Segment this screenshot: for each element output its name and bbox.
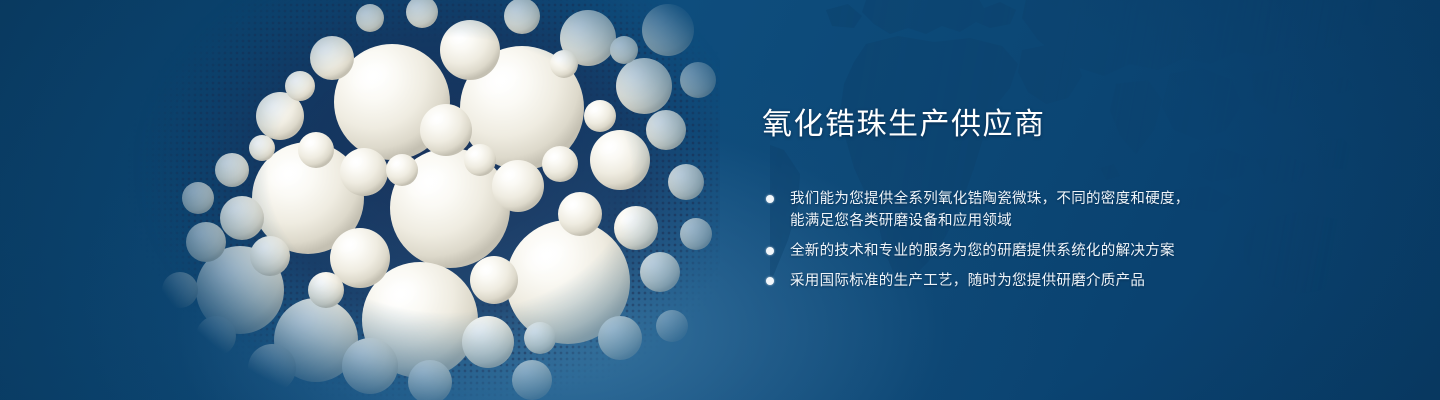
bullet-text-line-1: 采用国际标准的生产工艺，随时为您提供研磨介质产品 xyxy=(790,273,1145,289)
banner-copy-block: 氧化锆珠生产供应商 我们能为您提供全系列氧化锆陶瓷微珠，不同的密度和硬度， 能满… xyxy=(762,106,1232,292)
bullet-item: 采用国际标准的生产工艺，随时为您提供研磨介质产品 xyxy=(762,270,1232,292)
hero-banner: 氧化锆珠生产供应商 我们能为您提供全系列氧化锆陶瓷微珠，不同的密度和硬度， 能满… xyxy=(0,0,1440,400)
bullet-item: 我们能为您提供全系列氧化锆陶瓷微珠，不同的密度和硬度， 能满足您各类研磨设备和应… xyxy=(762,188,1232,232)
bullet-text-line-2: 能满足您各类研磨设备和应用领域 xyxy=(790,210,1232,232)
banner-bullet-list: 我们能为您提供全系列氧化锆陶瓷微珠，不同的密度和硬度， 能满足您各类研磨设备和应… xyxy=(762,188,1232,292)
bullet-item: 全新的技术和专业的服务为您的研磨提供系统化的解决方案 xyxy=(762,240,1232,262)
bullet-text-line-1: 全新的技术和专业的服务为您的研磨提供系统化的解决方案 xyxy=(790,243,1175,259)
bullet-text-line-1: 我们能为您提供全系列氧化锆陶瓷微珠，不同的密度和硬度， xyxy=(790,191,1190,207)
banner-title: 氧化锆珠生产供应商 xyxy=(762,106,1232,144)
